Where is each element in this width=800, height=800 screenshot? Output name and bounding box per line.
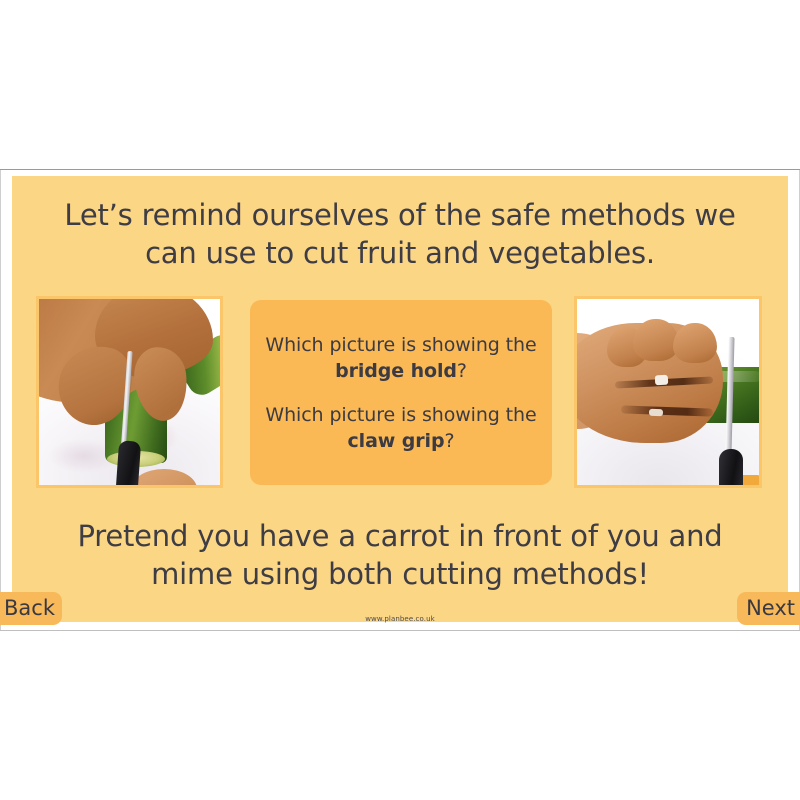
claw-grip-photo[interactable] bbox=[574, 296, 762, 488]
claw-grip-photo-image bbox=[577, 299, 759, 485]
question-claw-grip: Which picture is showing the claw grip? bbox=[264, 402, 538, 454]
watermark: www.planbee.co.uk bbox=[0, 615, 800, 623]
bridge-hold-photo[interactable] bbox=[36, 296, 223, 488]
knuckle bbox=[633, 319, 679, 361]
fingernail bbox=[655, 375, 669, 386]
fingernail bbox=[649, 409, 663, 416]
question-bridge-hold-suffix: ? bbox=[457, 360, 467, 382]
question-bridge-hold-prefix: Which picture is showing the bbox=[265, 334, 536, 356]
question-card: Which picture is showing the bridge hold… bbox=[250, 300, 552, 485]
question-bridge-hold-emphasis: bridge hold bbox=[335, 360, 457, 382]
question-claw-grip-suffix: ? bbox=[444, 430, 454, 452]
slide-viewer: Let’s remind ourselves of the safe metho… bbox=[0, 0, 800, 800]
knife-handle bbox=[719, 449, 743, 485]
knuckle bbox=[673, 323, 717, 363]
question-claw-grip-prefix: Which picture is showing the bbox=[265, 404, 536, 426]
knife-handle bbox=[115, 440, 141, 485]
question-claw-grip-emphasis: claw grip bbox=[348, 430, 445, 452]
question-bridge-hold: Which picture is showing the bridge hold… bbox=[264, 332, 538, 384]
slide-instruction: Pretend you have a carrot in front of yo… bbox=[60, 517, 740, 593]
bridge-hold-photo-image bbox=[39, 299, 220, 485]
slide-heading: Let’s remind ourselves of the safe metho… bbox=[40, 196, 760, 272]
